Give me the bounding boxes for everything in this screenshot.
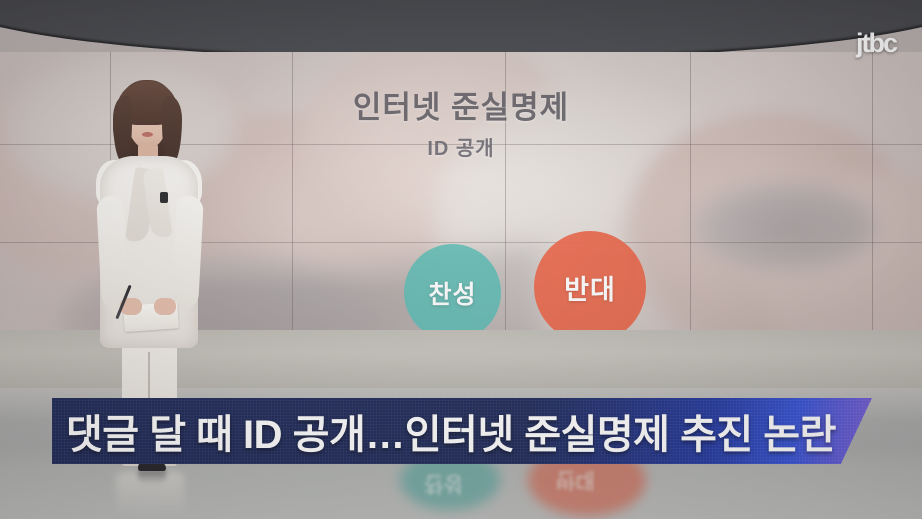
studio-ceiling-edge <box>0 0 922 60</box>
anchor-hair-right <box>162 96 182 164</box>
anchor-shoe-reflection <box>138 470 166 484</box>
pro-circle-label: 찬성 <box>428 275 476 311</box>
broadcast-frame: 인터넷 준실명제 ID 공개 찬성 반대 찬성 반대 <box>0 0 922 519</box>
lower-third-headline: 댓글 달 때 ID 공개…인터넷 준실명제 추진 논란 <box>52 398 872 464</box>
anchor-lips <box>142 132 153 137</box>
jtbc-logo: jtbc <box>856 30 896 57</box>
con-circle-label: 반대 <box>564 268 616 307</box>
lower-third-banner: 댓글 달 때 ID 공개…인터넷 준실명제 추진 논란 <box>52 398 872 464</box>
pro-circle: 찬성 <box>404 244 501 334</box>
anchor-arm-right <box>171 195 204 308</box>
anchor-arm-left <box>96 195 129 308</box>
anchor-lapel-mic <box>160 192 168 203</box>
pro-label-reflection: 찬성 <box>424 470 463 500</box>
con-label-reflection: 반대 <box>556 466 595 496</box>
anchor-hair-left <box>113 96 132 162</box>
anchor-hand-right <box>154 298 176 315</box>
con-circle: 반대 <box>534 231 646 334</box>
